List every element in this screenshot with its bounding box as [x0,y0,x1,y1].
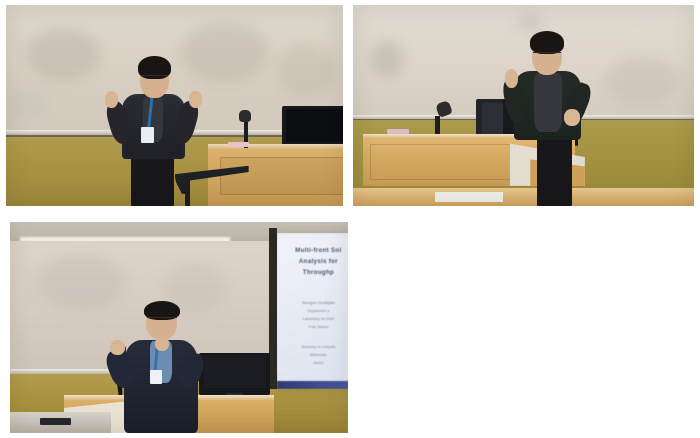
speaker-badge-1 [141,127,153,144]
slide-author-line-1: Shengxin Zhu/Bigfan [280,301,348,305]
panel-bottom-left[interactable]: Multi-front Sol Analysis for Throughp Sh… [10,222,348,433]
slide-footer-line-1: Workshop on Computa [280,345,348,349]
photo-collage: Multi-front Sol Analysis for Throughp Sh… [0,0,700,438]
monitor-screen-1 [286,109,342,142]
microphone-head-1 [239,110,251,122]
speaker-person-2 [503,33,598,206]
front-desk-paper-2 [435,192,503,202]
speaker-glasses-3 [147,317,177,320]
projector-screen-3: Multi-front Sol Analysis for Throughp Sh… [277,233,348,389]
presentation-slide: Multi-front Sol Analysis for Throughp Sh… [277,233,348,389]
panel-top-right[interactable] [353,5,694,206]
speaker-person-3 [111,294,219,433]
speaker-hair-2 [530,31,564,53]
slide-title-line-3: Throughp [280,267,348,278]
speaker-left-hand-3 [110,340,125,355]
slide-bottom-band [277,381,348,389]
podium-paper-1 [228,142,248,147]
speaker-right-hand-1 [189,91,202,108]
board-smudge [517,13,544,33]
speaker-shirt-2 [534,73,563,132]
slide-footer-line-3: Decem [280,361,348,365]
slide-title-line-2: Analysis for [280,256,348,267]
slide-author-line-3: Laboratory for Intell [280,317,348,321]
lecture-room-scene-2 [353,5,694,206]
lecture-room-scene-1 [6,5,343,206]
slide-author-line-4: Xi'an Jiaoton [280,325,348,329]
speaker-left-hand-1 [105,91,118,108]
speaker-glasses-2 [533,52,562,55]
speaker-glasses-1 [141,75,168,78]
slide-author-line-2: Department o [280,309,348,313]
lecture-room-scene-3: Multi-front Sol Analysis for Throughp Sh… [10,222,348,433]
desk-object-3 [40,418,70,425]
speaker-person-1 [107,53,208,206]
slide-title-line-1: Multi-front Sol [280,245,348,256]
speaker-legs-2 [537,133,571,206]
board-smudge [9,89,49,117]
panel-top-left[interactable] [6,5,343,206]
podium-front-panel-2 [370,144,516,180]
empty-cell-bottom-right [353,222,694,433]
slide-title: Multi-front Sol Analysis for Throughp [280,245,348,278]
slide-footer-line-2: Mathematic [280,353,348,357]
speaker-badge-3 [150,370,162,384]
podium-front-panel-1 [220,157,343,194]
